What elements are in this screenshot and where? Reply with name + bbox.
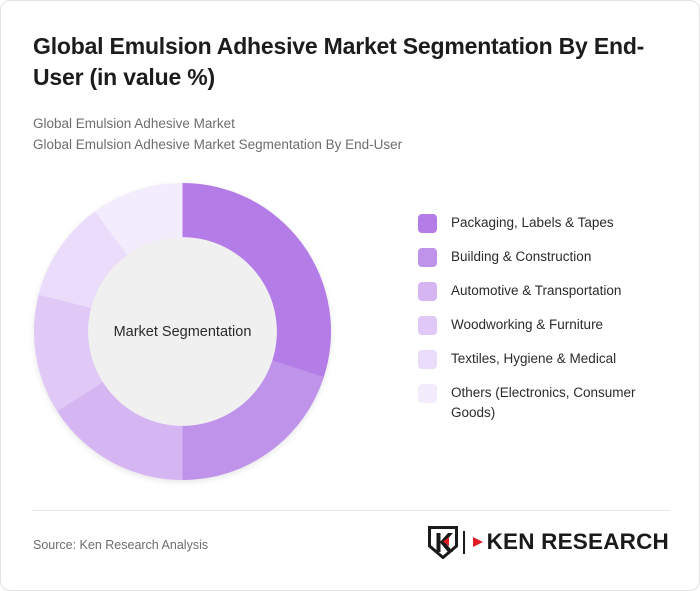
logo-wordmark: KEN RESEARCH [487, 529, 669, 555]
legend-item[interactable]: Automotive & Transportation [418, 281, 680, 301]
legend-label: Packaging, Labels & Tapes [451, 213, 614, 233]
legend-swatch-icon [418, 214, 437, 233]
legend-swatch-icon [418, 384, 437, 403]
donut-chart: Market Segmentation [34, 183, 331, 480]
legend-label: Building & Construction [451, 247, 591, 267]
donut-chart-svg [34, 183, 331, 480]
legend-label: Others (Electronics, Consumer Goods) [451, 383, 680, 423]
source-note: Source: Ken Research Analysis [33, 538, 208, 552]
legend-label: Automotive & Transportation [451, 281, 621, 301]
legend-item[interactable]: Textiles, Hygiene & Medical [418, 349, 680, 369]
legend-item[interactable]: Packaging, Labels & Tapes [418, 213, 680, 233]
legend-swatch-icon [418, 282, 437, 301]
legend-swatch-icon [418, 316, 437, 335]
chart-legend: Packaging, Labels & TapesBuilding & Cons… [418, 213, 680, 437]
logo-divider [463, 531, 465, 554]
legend-label: Textiles, Hygiene & Medical [451, 349, 616, 369]
legend-item[interactable]: Building & Construction [418, 247, 680, 267]
subtitle-market: Global Emulsion Adhesive Market [33, 113, 633, 134]
legend-item[interactable]: Others (Electronics, Consumer Goods) [418, 383, 680, 423]
legend-swatch-icon [418, 248, 437, 267]
legend-swatch-icon [418, 350, 437, 369]
subtitle-block: Global Emulsion Adhesive Market Global E… [33, 113, 633, 155]
ken-research-logo: KEN RESEARCH [428, 525, 669, 559]
ken-research-shield-icon [428, 526, 458, 559]
page-title: Global Emulsion Adhesive Market Segmenta… [33, 31, 653, 93]
subtitle-segmentation: Global Emulsion Adhesive Market Segmenta… [33, 134, 633, 155]
legend-item[interactable]: Woodworking & Furniture [418, 315, 680, 335]
chart-card: Global Emulsion Adhesive Market Segmenta… [0, 0, 700, 591]
donut-hole [88, 237, 277, 426]
footer-divider [32, 510, 670, 511]
legend-label: Woodworking & Furniture [451, 315, 603, 335]
logo-red-triangle-icon [471, 535, 485, 549]
